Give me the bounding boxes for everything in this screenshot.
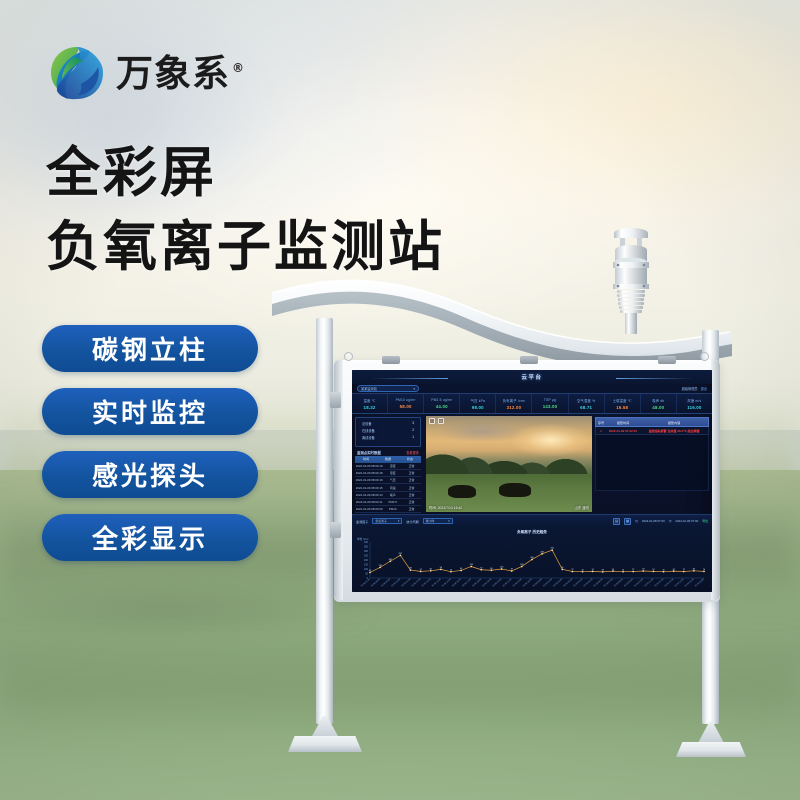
- clock-icon: ◷: [635, 519, 638, 523]
- table-cell: 正常: [402, 477, 421, 483]
- chart-point-label: 72: [571, 569, 574, 571]
- table-cell: 温度超标报警 当前值 38.2℃ 超过阈值: [640, 427, 708, 434]
- chart-x-tick: 01-09 08:00: [614, 578, 624, 587]
- expand-icon[interactable]: ⛶: [429, 418, 435, 424]
- table-icon[interactable]: ▦: [624, 518, 631, 525]
- metric-1: 温度 ℃18.32: [352, 394, 388, 413]
- table-cell: 正常: [402, 470, 421, 476]
- table-row[interactable]: 2022-01-09 08:00:16气压正常: [355, 477, 421, 484]
- cabinet-mount-hole-right: [700, 352, 709, 361]
- globe-sphere-logo: [48, 44, 106, 102]
- screen-title-bar: 云平台: [352, 370, 712, 384]
- table-cell: 正常: [402, 499, 421, 505]
- device-count-value: 1: [412, 435, 414, 440]
- history-table-header: 时间数据状态: [355, 456, 421, 463]
- period-label: 统计周期: [406, 519, 418, 524]
- chart-point-label: 70: [581, 569, 584, 571]
- screen-title: 云平台: [522, 373, 543, 381]
- table-cell: 2022-01-09 08:00:09: [355, 506, 383, 512]
- alarm-table-body[interactable]: 12022-01-09 07:32:15温度超标报警 当前值 38.2℃ 超过阈…: [595, 427, 709, 435]
- device-count-row: 离线设备1: [358, 435, 418, 440]
- chart-x-tick: 01-09 13:00: [664, 578, 674, 587]
- metric-label: TSP μg: [544, 398, 556, 402]
- metric-label: 土壤温度 ℃: [613, 398, 632, 403]
- video-timestamp: 时间: 2022/7/13 16:42: [429, 505, 462, 510]
- chart-point-label: 96: [561, 567, 564, 569]
- trend-chart-panel: 负氧离子 历史趋势 单位 /cm³ 0501001502002503003504…: [352, 527, 712, 592]
- chart-x-tick: 01-08 18:00: [472, 578, 482, 587]
- chart-x-tick: 01-08 08:00: [371, 578, 381, 587]
- cabinet-mount-hole-left: [344, 352, 353, 361]
- cabinet-hinge-top: [330, 392, 341, 408]
- metric-3: PM2.5 ug/m³44.00: [424, 394, 460, 413]
- metric-label: 负氧离子 /cm³: [503, 398, 525, 403]
- factor-select[interactable]: 负氧离子 ▾: [372, 518, 402, 525]
- chevron-down-icon: ▾: [398, 519, 399, 523]
- metric-value: 68.71: [580, 405, 592, 410]
- video-cattle-2: [499, 483, 531, 496]
- metric-label: 气压 kPa: [471, 398, 485, 403]
- chart-point-label: 86: [490, 568, 493, 570]
- chart-x-tick: 01-09 12:00: [654, 578, 664, 587]
- device-count-label: 在线设备: [362, 428, 375, 433]
- chart-point-label: 96: [440, 567, 443, 569]
- history-column-header: 数据: [377, 456, 399, 463]
- right-base-gusset: [698, 722, 724, 743]
- table-cell: 2022-01-09 08:00:11: [355, 499, 383, 505]
- metric-label: 空气湿度 %: [577, 398, 595, 403]
- chart-y-tick: 50: [365, 573, 368, 576]
- device-count-value: 3: [412, 421, 414, 426]
- table-cell: 2022-01-09 08:00:18: [355, 470, 383, 476]
- alarm-empty-area: [595, 435, 709, 491]
- history-column-header: 时间: [355, 456, 377, 463]
- alarm-column-header: 序号: [596, 418, 606, 426]
- table-cell: 正常: [402, 492, 421, 498]
- chart-point-label: 76: [612, 569, 615, 571]
- table-cell: 2022-01-09 08:00:19: [355, 463, 383, 469]
- alarm-column-header: 报警时间: [606, 418, 640, 426]
- user-name: 超级管理员: [682, 386, 698, 391]
- cabinet-clip-left: [382, 356, 400, 364]
- chart-point-label: 310: [550, 548, 554, 550]
- export-button[interactable]: 导出: [702, 519, 708, 523]
- chart-x-tick: 01-08 17:00: [462, 578, 472, 587]
- registered-mark: ®: [232, 61, 245, 75]
- video-location: 山东 潍坊: [574, 505, 589, 510]
- chart-y-tick: 200: [364, 559, 369, 562]
- chart-x-tick: 01-08 22:00: [513, 578, 523, 587]
- metric-label: PM10 ug/m³: [396, 398, 416, 402]
- chart-x-tick: 01-08 14:00: [432, 578, 442, 587]
- metric-value: 143.00: [543, 404, 558, 409]
- user-area[interactable]: 超级管理员 退出: [682, 386, 707, 391]
- chart-point-label: 78: [642, 569, 645, 571]
- video-cattle-1: [448, 485, 476, 497]
- chart-x-tick: 01-08 20:00: [492, 578, 502, 587]
- table-row[interactable]: 2022-01-09 08:00:18湿度正常: [355, 470, 421, 477]
- history-more-link[interactable]: 查看更多: [406, 450, 419, 455]
- table-row[interactable]: 2022-01-09 08:00:11PM2.5正常: [355, 499, 421, 506]
- table-row[interactable]: 2022-01-09 08:00:09PM10正常: [355, 506, 421, 513]
- chart-x-tick: 01-08 23:00: [523, 578, 533, 587]
- chart-point-label: 80: [430, 568, 433, 570]
- table-cell: 风速: [383, 484, 402, 490]
- device-count-label: 离线设备: [362, 435, 375, 440]
- chart-x-tick: 01-08 12:00: [411, 578, 421, 587]
- chart-point-label: 92: [480, 567, 483, 569]
- period-select[interactable]: 按小时 ▾: [423, 518, 453, 525]
- cabinet-clip-center: [520, 356, 538, 364]
- chart-x-tick: 01-08 21:00: [503, 578, 513, 587]
- chart-y-tick: 350: [364, 546, 369, 549]
- history-panel-header: 监测点实时数据 查看更多: [355, 450, 421, 455]
- table-cell: PM10: [383, 506, 402, 512]
- logout-link[interactable]: 退出: [701, 386, 707, 391]
- table-cell: 2022-01-09 08:00:13: [355, 492, 383, 498]
- chart-plot-area: 0501001502002503003504006201-08 07:00118…: [356, 540, 708, 589]
- history-column-header: 状态: [399, 456, 421, 463]
- chart-point-label: 70: [662, 569, 665, 571]
- metric-label: PM2.5 ug/m³: [431, 398, 452, 402]
- chart-x-tick: 01-08 10:00: [391, 578, 401, 587]
- cabinet-hinge-bottom: [330, 522, 341, 538]
- table-cell: 温度: [383, 463, 402, 469]
- brand-logo-block: 万象系®: [48, 44, 245, 102]
- chart-axis: [370, 542, 704, 578]
- table-cell: 2022-01-09 07:32:15: [606, 427, 640, 434]
- table-row[interactable]: 2022-01-09 08:00:15风速正常: [355, 484, 421, 491]
- chart-y-tick: 250: [364, 555, 369, 558]
- video-toolbar[interactable]: ⛶ ◎: [429, 418, 444, 424]
- chart-point-label: 74: [592, 569, 595, 571]
- metric-label: 噪声 db: [652, 398, 664, 403]
- chart-x-tick: 01-09 02:00: [553, 578, 563, 587]
- brand-name-text: 万象系: [116, 52, 230, 95]
- right-flange-base-plate: [676, 742, 746, 757]
- metric-value: 48.00: [652, 405, 664, 410]
- factor-label: 监测因子: [356, 519, 368, 524]
- metric-label: 温度 ℃: [364, 398, 376, 403]
- feature-pill-4[interactable]: 全彩显示: [42, 514, 258, 561]
- chart-point-label: 70: [622, 569, 625, 571]
- table-cell: 湿度: [383, 470, 402, 476]
- end-time[interactable]: 2022-01-09 07:00: [675, 519, 698, 523]
- led-display-screen[interactable]: 云平台 某某监测站 ▾ 超级管理员 退出 温度 ℃18.32PM10 ug/m³…: [352, 370, 712, 592]
- metric-value: 44.00: [436, 404, 448, 409]
- table-cell: PM2.5: [383, 499, 402, 505]
- camera-icon[interactable]: ◎: [438, 418, 444, 424]
- chart-x-tick: 01-09 14:00: [675, 578, 685, 587]
- chart-x-tick: 01-09 04:00: [573, 578, 583, 587]
- screen-sub-bar: 某某监测站 ▾ 超级管理员 退出: [352, 384, 712, 393]
- trend-line-chart: 0501001502002503003504006201-08 07:00118…: [356, 540, 708, 589]
- table-cell: 正常: [402, 484, 421, 490]
- feature-pill-1[interactable]: 碳钢立柱: [42, 325, 258, 372]
- feature-pill-2[interactable]: 实时监控: [42, 388, 258, 435]
- screen-main-area: 总设备3在线设备2离线设备1 监测点实时数据 查看更多 时间数据状态 2022-…: [352, 414, 712, 514]
- chart-x-tick: 01-09 07:00: [604, 578, 614, 587]
- metric-6: TSP μg143.00: [532, 394, 568, 413]
- chart-point-label: 72: [632, 569, 635, 571]
- chart-point-label: 88: [409, 568, 412, 570]
- cabinet-right-edge: [711, 360, 720, 600]
- metric-7: 空气湿度 %68.71: [569, 394, 605, 413]
- chart-x-tick: 01-09 03:00: [563, 578, 573, 587]
- chevron-down-icon: ▾: [448, 519, 449, 523]
- alarm-table-header: 序号报警时间报警内容: [595, 417, 709, 427]
- video-panel[interactable]: ⛶ ◎ 时间: 2022/7/13 16:42 山东 潍坊: [424, 414, 594, 514]
- period-select-value: 按小时: [426, 519, 435, 523]
- cabinet-clip-right: [658, 356, 676, 364]
- site-selector-value: 某某监测站: [361, 386, 377, 391]
- camera-live-feed[interactable]: ⛶ ◎ 时间: 2022/7/13 16:42 山东 潍坊: [426, 416, 592, 512]
- history-panel-title: 监测点实时数据: [357, 450, 381, 455]
- chart-point-label: 74: [419, 569, 422, 571]
- metric-4: 气压 kPa98.00: [460, 394, 496, 413]
- chart-point-label: 74: [703, 569, 706, 571]
- chart-x-tick: 01-09 16:00: [695, 578, 705, 587]
- headline-line-1: 全彩屏: [46, 128, 217, 207]
- metric-value: 18.32: [364, 405, 376, 410]
- metric-5: 负氧离子 /cm³312.00: [496, 394, 532, 413]
- chart-title: 负氧离子 历史趋势: [356, 530, 708, 535]
- table-cell: 气压: [383, 477, 402, 483]
- table-cell: 2022-01-09 08:00:15: [355, 484, 383, 490]
- table-row[interactable]: 2022-01-09 08:00:13噪声正常: [355, 492, 421, 499]
- left-panel: 总设备3在线设备2离线设备1 监测点实时数据 查看更多 时间数据状态 2022-…: [352, 414, 424, 514]
- metric-label: 风速 m/s: [687, 398, 701, 403]
- device-count-label: 总设备: [362, 421, 372, 426]
- chart-y-tick: 300: [364, 550, 369, 553]
- chart-x-tick: 01-08 15:00: [442, 578, 452, 587]
- chart-point-label: 72: [683, 569, 686, 571]
- alarm-column-header: 报警内容: [640, 418, 708, 426]
- bar-chart-icon[interactable]: ▤: [613, 518, 620, 525]
- chart-x-tick: 01-09 09:00: [624, 578, 634, 587]
- table-cell: 正常: [402, 463, 421, 469]
- metrics-bar: 温度 ℃18.32PM10 ug/m³58.00PM2.5 ug/m³44.00…: [352, 393, 712, 414]
- table-cell: 正常: [402, 506, 421, 512]
- chart-x-tick: 01-09 06:00: [594, 578, 604, 587]
- metric-2: PM10 ug/m³58.00: [388, 394, 424, 413]
- metric-value: 16.58: [616, 405, 628, 410]
- chart-point-label: 68: [602, 569, 605, 571]
- metric-10: 风速 m/s116.00: [677, 394, 712, 413]
- table-row[interactable]: 12022-01-09 07:32:15温度超标报警 当前值 38.2℃ 超过阈…: [595, 427, 709, 435]
- clock-icon-2: ◷: [669, 519, 672, 523]
- chart-x-tick: 01-09 15:00: [685, 578, 695, 587]
- alarm-panel: 序号报警时间报警内容 12022-01-09 07:32:15温度超标报警 当前…: [594, 414, 712, 514]
- metric-value: 98.00: [472, 405, 484, 410]
- table-cell: 2022-01-09 08:00:16: [355, 477, 383, 483]
- device-count-row: 在线设备2: [358, 428, 418, 433]
- site-selector[interactable]: 某某监测站 ▾: [357, 385, 419, 392]
- headline-line-2: 负氧离子监测站: [46, 202, 445, 281]
- chart-x-tick: 01-08 11:00: [401, 578, 411, 587]
- left-flange-base-plate: [288, 736, 362, 752]
- chart-x-tick: 01-09 10:00: [634, 578, 644, 587]
- device-count-value: 2: [412, 428, 414, 433]
- chart-x-tick: 01-09 11:00: [644, 578, 654, 587]
- table-row[interactable]: 2022-01-09 08:00:19温度正常: [355, 463, 421, 470]
- table-cell: 噪声: [383, 492, 402, 498]
- chart-x-tick: 01-08 16:00: [452, 578, 462, 587]
- chart-x-tick: 01-09 05:00: [584, 578, 594, 587]
- chart-x-tick: 01-09 01:00: [543, 578, 553, 587]
- factor-select-value: 负氧离子: [375, 519, 387, 523]
- ultrasonic-weather-sensor: [600, 222, 662, 334]
- chart-x-tick: 01-08 19:00: [482, 578, 492, 587]
- chart-point-label: 74: [652, 569, 655, 571]
- chart-x-tick: 01-08 09:00: [381, 578, 391, 587]
- metric-8: 土壤温度 ℃16.58: [605, 394, 641, 413]
- chart-point-label: 128: [469, 564, 473, 566]
- chart-point-label: 100: [500, 567, 504, 569]
- chevron-down-icon: ▾: [413, 387, 415, 391]
- left-carbon-steel-post: [316, 318, 333, 724]
- chart-point-label: 70: [450, 569, 453, 571]
- feature-pill-list: 碳钢立柱实时监控感光探头全彩显示: [42, 325, 258, 561]
- chart-control-bar[interactable]: 监测因子 负氧离子 ▾ 统计周期 按小时 ▾ ▤ ▦ ◷ 2022-01-08 …: [352, 514, 712, 527]
- metric-9: 噪声 db48.00: [641, 394, 677, 413]
- chart-y-tick: 400: [364, 541, 369, 544]
- brand-name: 万象系®: [116, 55, 245, 92]
- metric-value: 116.00: [687, 405, 701, 410]
- table-cell: 1: [596, 427, 606, 434]
- device-count-row: 总设备3: [358, 421, 418, 426]
- metric-value: 312.00: [507, 405, 522, 410]
- device-count-panel: 总设备3在线设备2离线设备1: [355, 417, 421, 447]
- feature-pill-3[interactable]: 感光探头: [42, 451, 258, 498]
- chart-y-tick: 150: [364, 564, 369, 567]
- chart-x-tick: 01-09 00:00: [533, 578, 543, 587]
- marketing-image-stage: 云平台 某某监测站 ▾ 超级管理员 退出 温度 ℃18.32PM10 ug/m³…: [0, 0, 800, 800]
- metric-value: 58.00: [400, 404, 412, 409]
- chart-point-label: 76: [672, 569, 675, 571]
- chart-point-label: 252: [399, 553, 403, 555]
- chart-x-tick: 01-08 13:00: [422, 578, 432, 587]
- chart-point-label: 80: [693, 568, 696, 570]
- start-time[interactable]: 2022-01-08 07:00: [642, 519, 665, 523]
